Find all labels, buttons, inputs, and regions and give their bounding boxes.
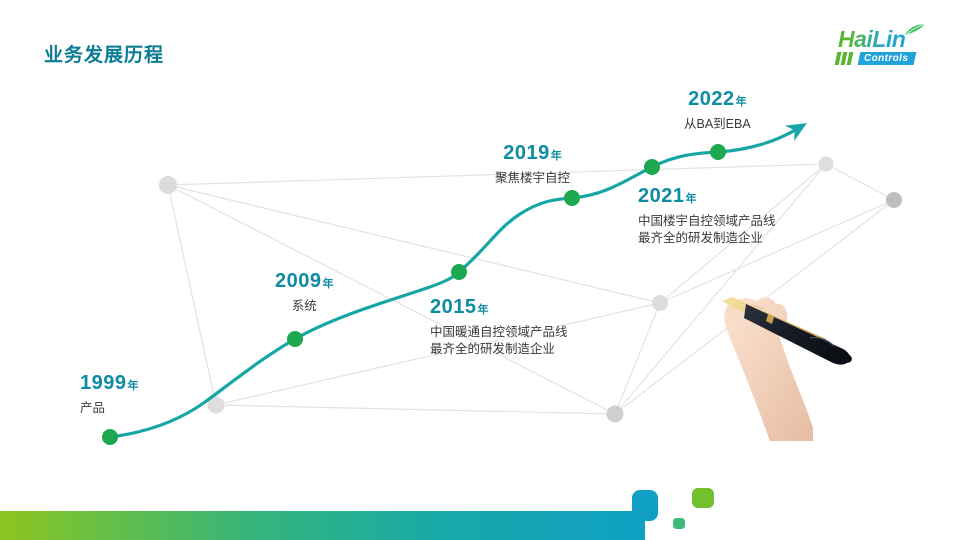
milestone-year: 2022年 [684,88,751,111]
milestone-year: 1999年 [80,372,139,395]
milestone-desc-line: 最齐全的研发制造企业 [638,230,776,247]
milestone-2019[interactable]: 2019年 聚焦楼宇自控 [495,142,570,187]
milestone-1999[interactable]: 1999年 产品 [80,372,139,417]
hand-with-pen-illustration [700,276,880,441]
milestone-year: 2021年 [638,185,776,208]
milestone-year: 2009年 [275,270,334,293]
growth-curve [0,0,960,540]
milestone-desc-line: 从BA到EBA [684,116,751,133]
milestone-desc-line: 最齐全的研发制造企业 [430,341,568,358]
milestone-2009[interactable]: 2009年 系统 [275,270,334,315]
milestone-dot-2019[interactable] [564,190,580,206]
milestone-dot-2021[interactable] [644,159,660,175]
milestone-2015[interactable]: 2015年 中国暖通自控领域产品线 最齐全的研发制造企业 [430,296,568,358]
milestone-year: 2019年 [495,142,570,165]
milestone-2022[interactable]: 2022年 从BA到EBA [684,88,751,133]
milestone-year: 2015年 [430,296,568,319]
milestone-dot-2015[interactable] [451,264,467,280]
milestone-2021[interactable]: 2021年 中国楼宇自控领域产品线 最齐全的研发制造企业 [638,185,776,247]
milestone-dot-2009[interactable] [287,331,303,347]
slide-canvas: 业务发展历程 HaiLin Controls [0,0,960,540]
green-square-large [692,488,714,508]
milestone-dot-2022[interactable] [710,144,726,160]
milestone-desc-line: 系统 [275,298,334,315]
milestone-desc-line: 中国暖通自控领域产品线 [430,324,568,341]
green-square-small [673,518,685,529]
milestone-desc-line: 中国楼宇自控领域产品线 [638,213,776,230]
milestone-desc-line: 聚焦楼宇自控 [495,170,570,187]
bottom-decoration-bar [0,482,960,540]
milestone-desc-line: 产品 [80,400,139,417]
milestone-dot-1999[interactable] [102,429,118,445]
